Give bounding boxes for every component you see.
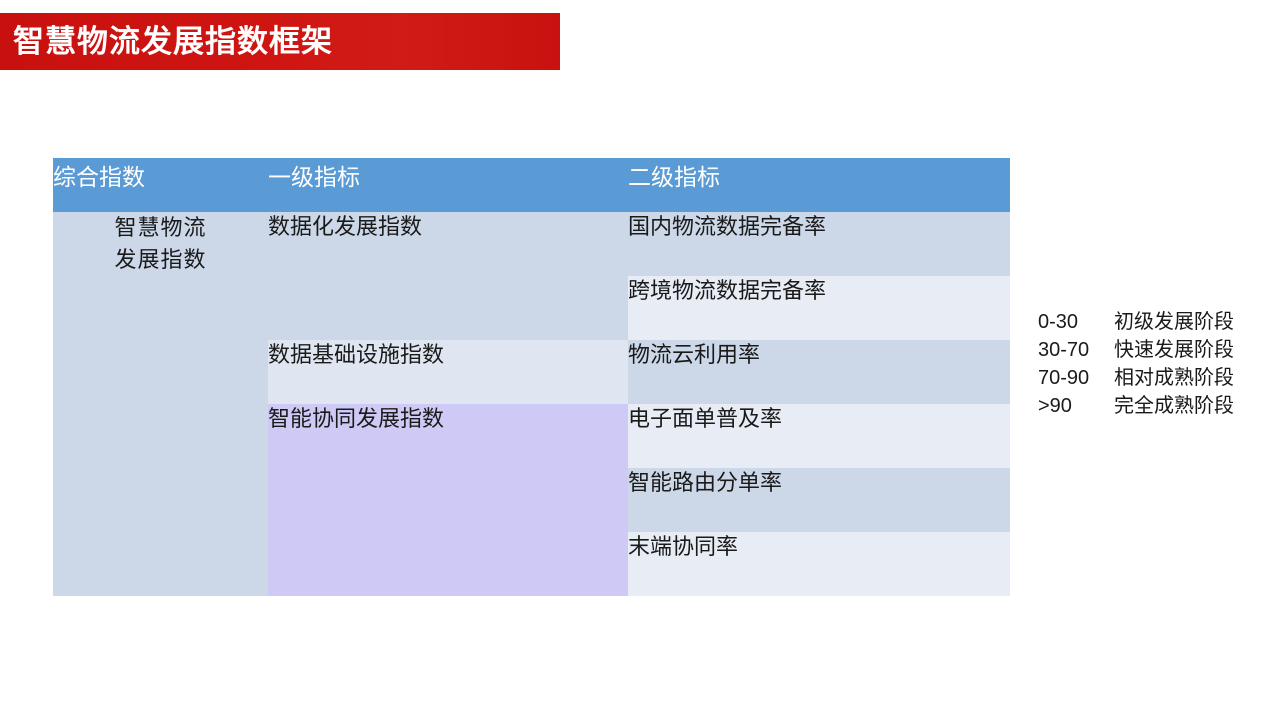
legend-item: 70-90 相对成熟阶段: [1038, 364, 1234, 392]
legend-label: 完全成熟阶段: [1114, 392, 1234, 420]
legend-range: >90: [1038, 392, 1114, 420]
slide-title-banner: 智慧物流发展指数框架: [0, 13, 560, 70]
legend-item: 30-70 快速发展阶段: [1038, 336, 1234, 364]
legend-range: 0-30: [1038, 308, 1114, 336]
legend-label: 快速发展阶段: [1114, 336, 1234, 364]
primary-indicator-cell-data-development: 数据化发展指数: [268, 212, 628, 340]
primary-indicator-cell-data-infrastructure: 数据基础设施指数: [268, 340, 628, 404]
legend-range: 70-90: [1038, 364, 1114, 392]
secondary-indicator-cell: 物流云利用率: [628, 340, 1010, 404]
secondary-indicator-cell: 电子面单普及率: [628, 404, 1010, 468]
page-title: 智慧物流发展指数框架: [13, 26, 333, 57]
framework-table: 综合指数 一级指标 二级指标 智慧物流 发展指数 数据化发展指数 国内物流数据完…: [53, 158, 1010, 596]
composite-index-line-2: 发展指数: [53, 244, 268, 276]
secondary-indicator-cell: 国内物流数据完备率: [628, 212, 1010, 276]
table-header-row: 综合指数 一级指标 二级指标: [53, 158, 1010, 212]
secondary-indicator-cell: 跨境物流数据完备率: [628, 276, 1010, 340]
primary-indicator-cell-smart-collaboration: 智能协同发展指数: [268, 404, 628, 596]
legend-item: >90 完全成熟阶段: [1038, 392, 1234, 420]
legend-label: 相对成熟阶段: [1114, 364, 1234, 392]
legend-item: 0-30 初级发展阶段: [1038, 308, 1234, 336]
secondary-indicator-cell: 末端协同率: [628, 532, 1010, 596]
column-header-secondary-indicator: 二级指标: [628, 158, 1010, 212]
column-header-composite-index: 综合指数: [53, 158, 268, 212]
legend-label: 初级发展阶段: [1114, 308, 1234, 336]
index-stage-legend: 0-30 初级发展阶段 30-70 快速发展阶段 70-90 相对成熟阶段 >9…: [1038, 308, 1234, 420]
secondary-indicator-cell: 智能路由分单率: [628, 468, 1010, 532]
composite-index-line-1: 智慧物流: [53, 212, 268, 244]
column-header-primary-indicator: 一级指标: [268, 158, 628, 212]
table-row: 智慧物流 发展指数 数据化发展指数 国内物流数据完备率: [53, 212, 1010, 276]
composite-index-cell: 智慧物流 发展指数: [53, 212, 268, 596]
legend-range: 30-70: [1038, 336, 1114, 364]
